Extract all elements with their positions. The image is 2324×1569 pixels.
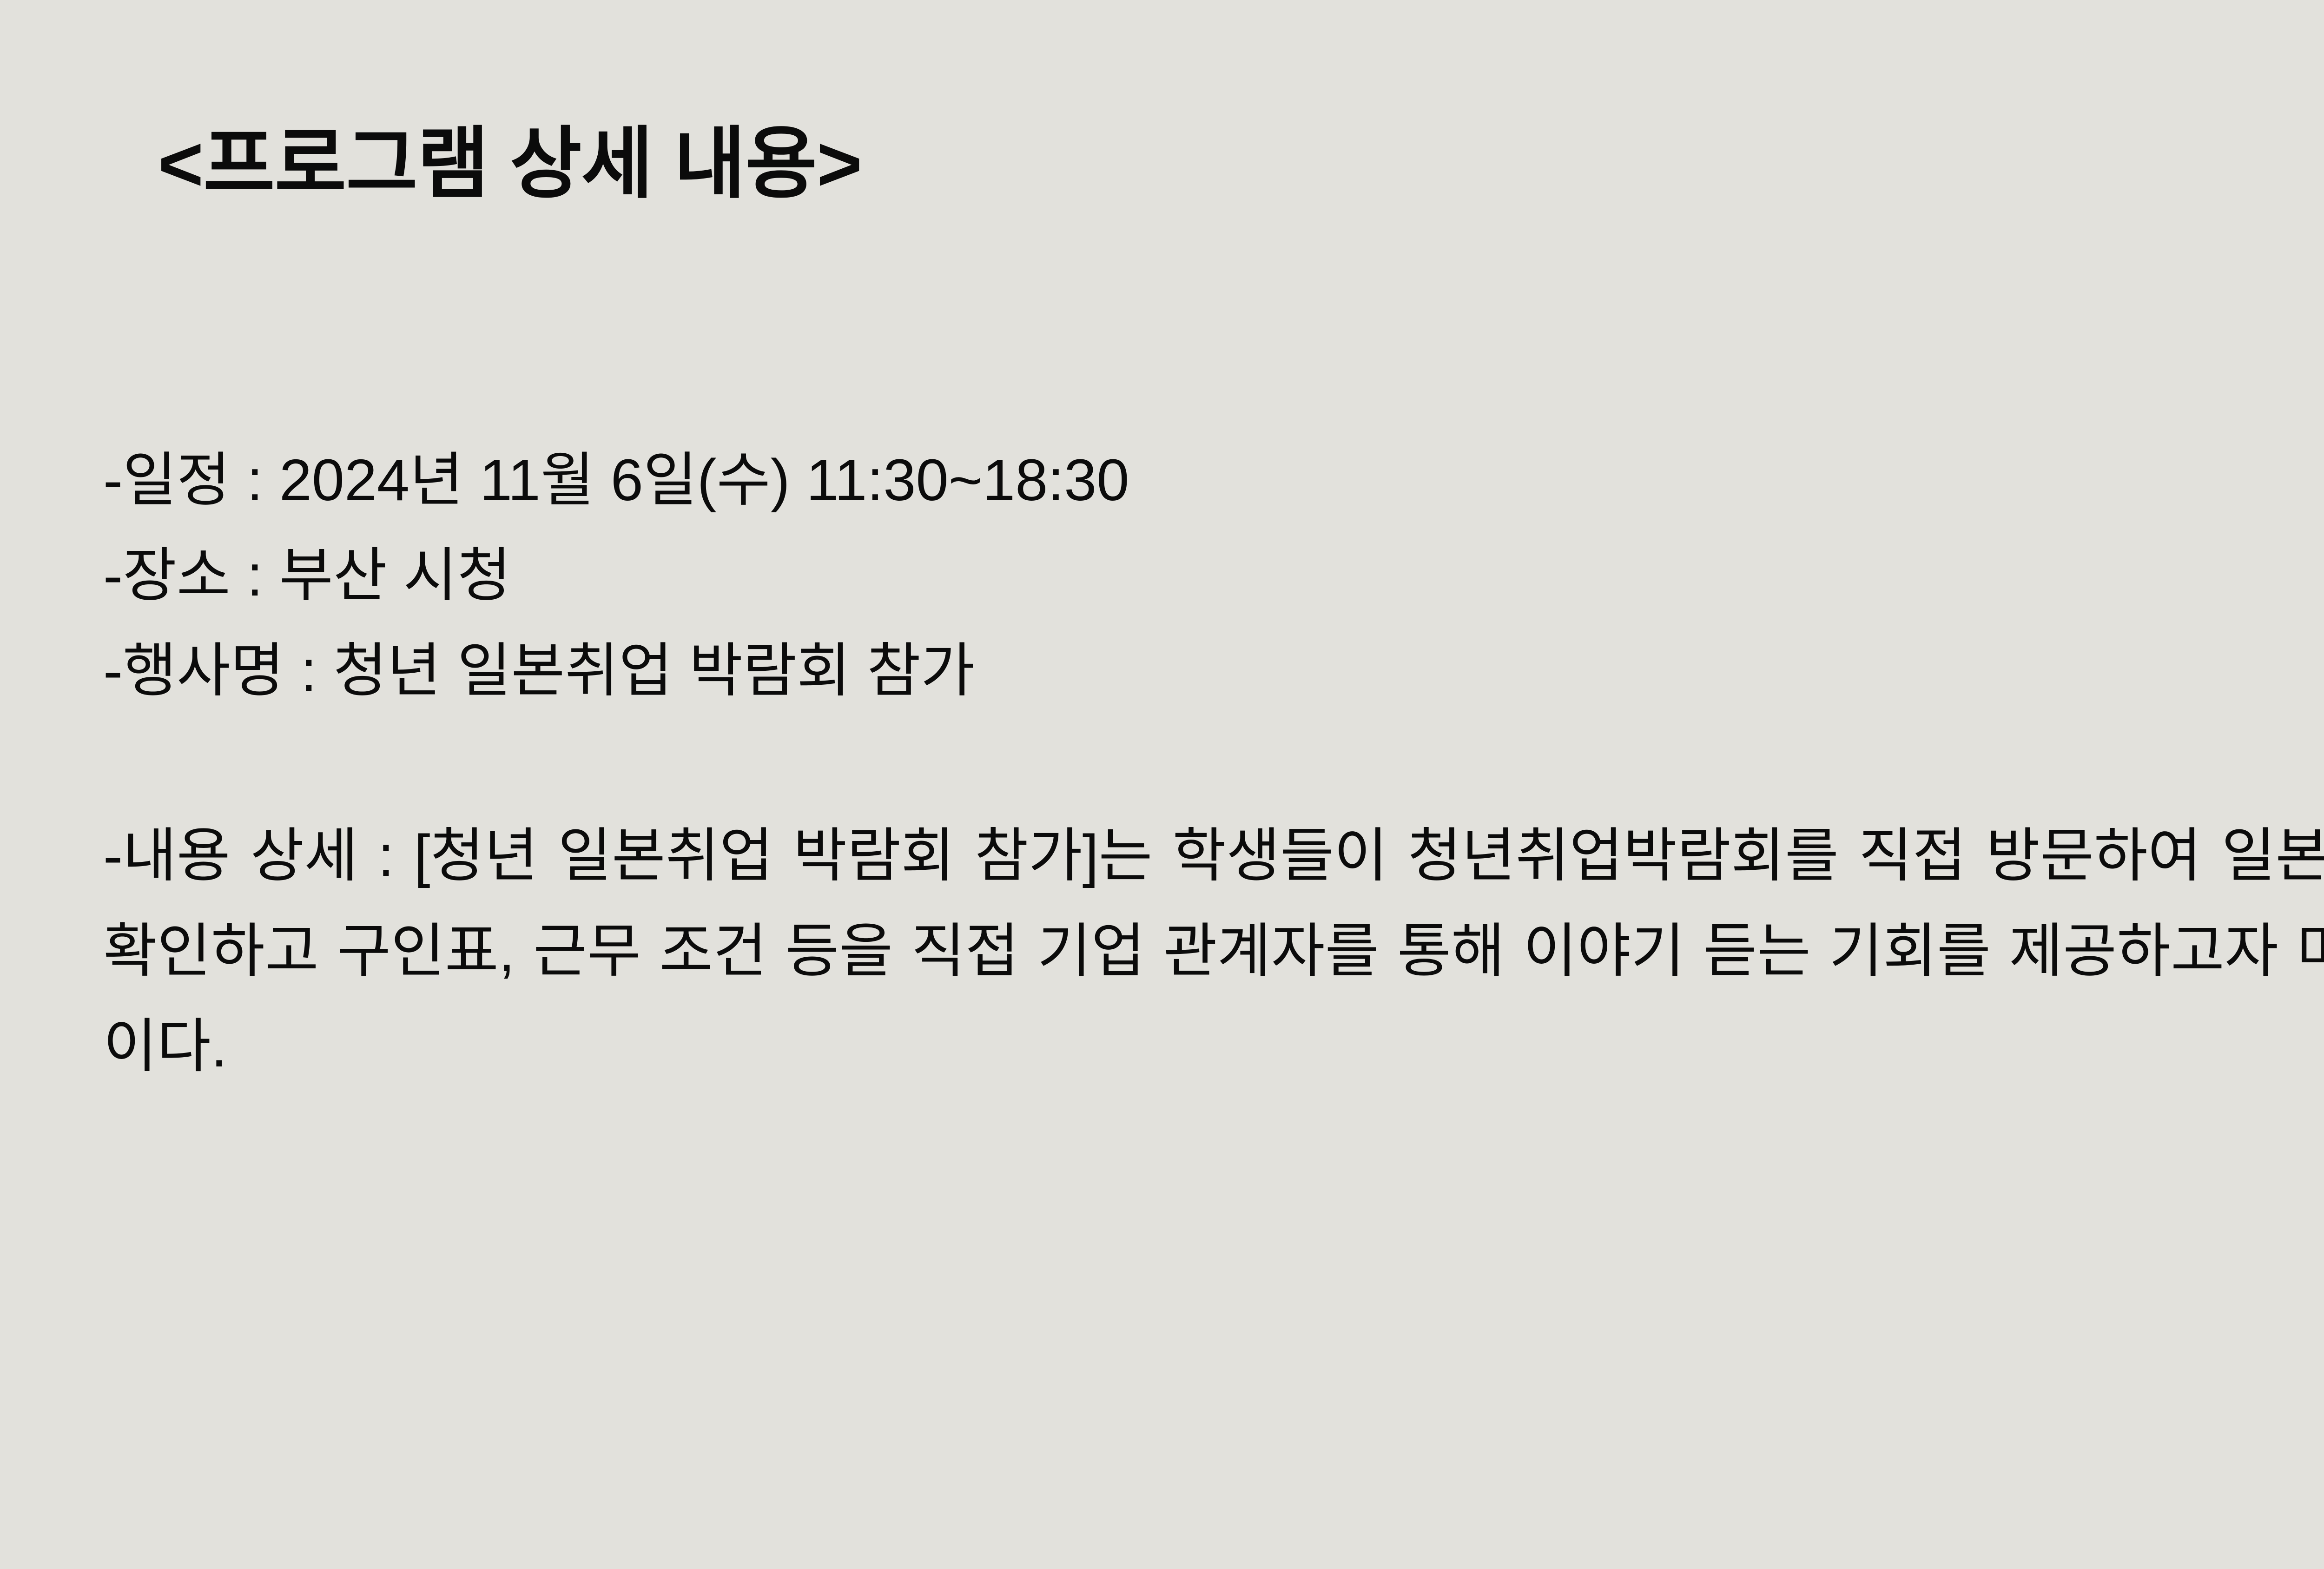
program-description-paragraph: -내용 상세 : [청년 일본취업 박람회 참가]는 학생들이 청년취업박람회를… (103, 808, 2324, 1189)
presentation-slide: <프로그램 상세 내용> -일정 : 2024년 11월 6일(수) 11:30… (0, 0, 2324, 1569)
detail-line-schedule: -일정 : 2024년 11월 6일(수) 11:30~18:30 (103, 432, 2324, 528)
page-title: <프로그램 상세 내용> (158, 114, 862, 214)
detail-line-event-name: -행사명 : 청년 일본취업 박람회 참가 (103, 623, 2324, 718)
program-detail-list: -일정 : 2024년 11월 6일(수) 11:30~18:30 -장소 : … (103, 432, 2324, 718)
detail-line-venue: -장소 : 부산 시청 (103, 528, 2324, 623)
